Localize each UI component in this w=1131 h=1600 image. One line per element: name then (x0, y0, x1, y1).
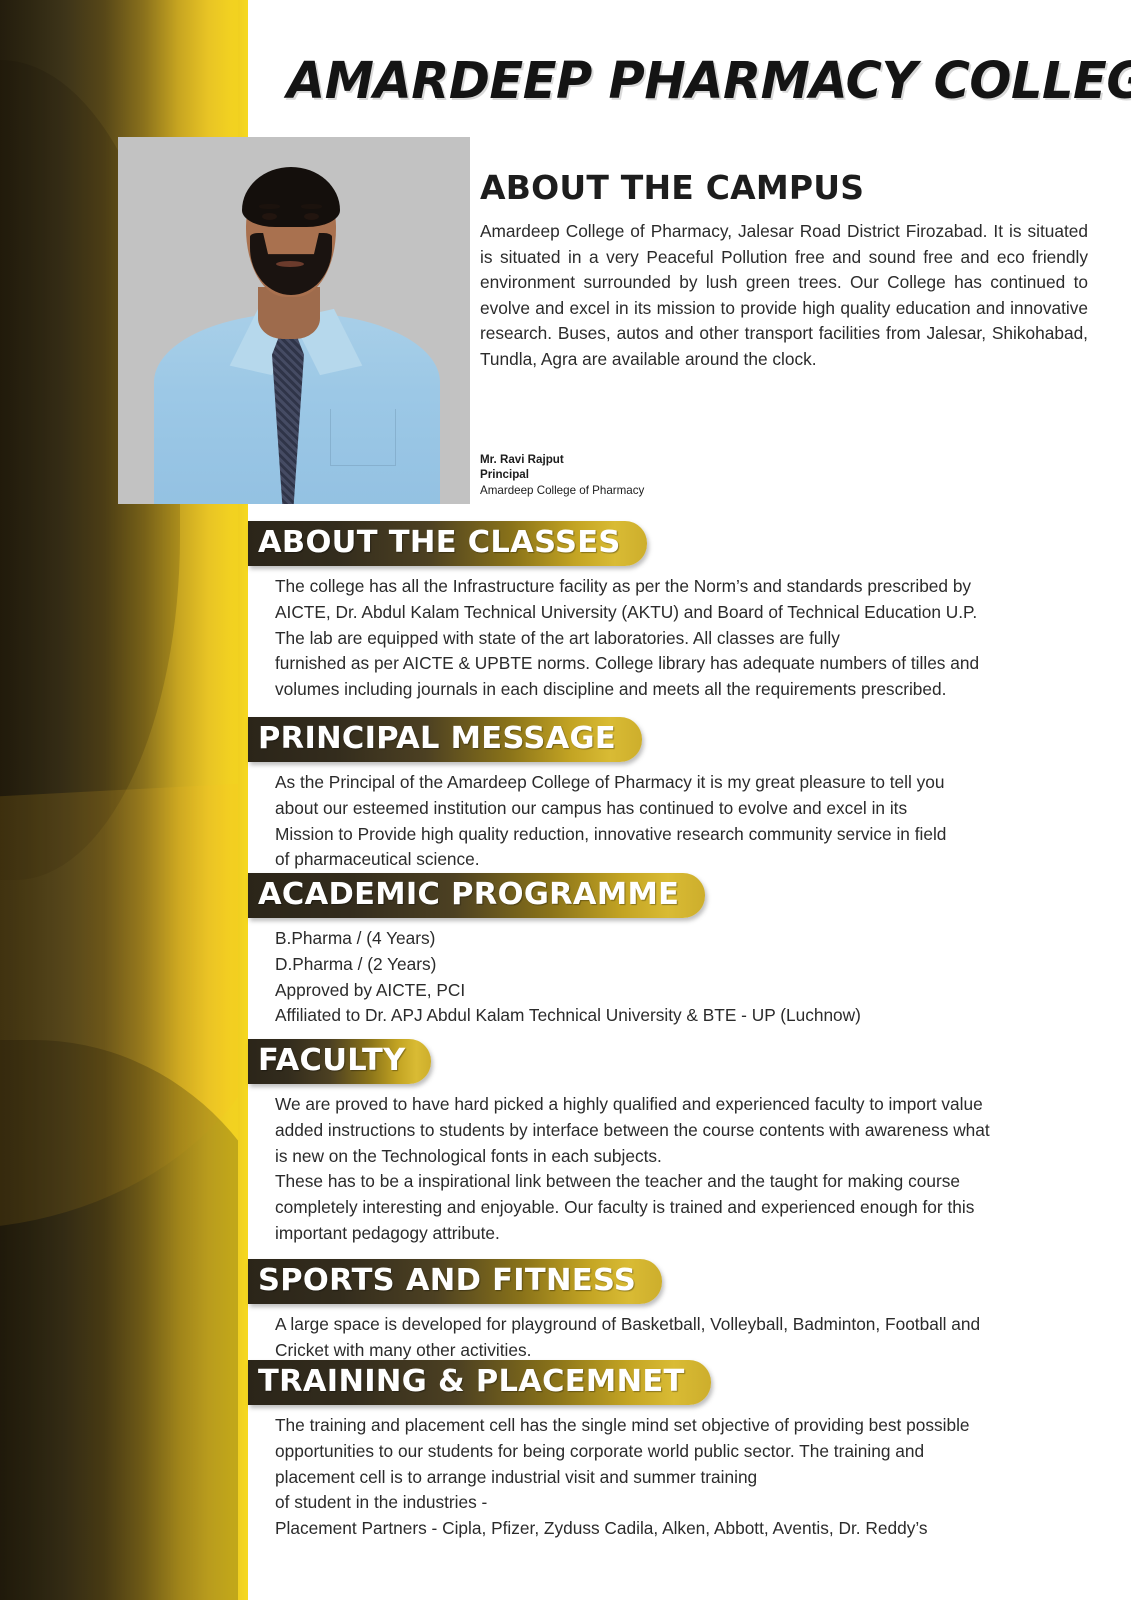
poster-page: AMARDEEP PHARMACY COLLEGE ABOUT THE CAMP… (0, 0, 1131, 1600)
section-body-line: A large space is developed for playgroun… (275, 1312, 1095, 1338)
section-heading-label: ABOUT THE CLASSES (258, 525, 621, 560)
section-body-line: completely interesting and enjoyable. Ou… (275, 1195, 1095, 1221)
photo-eye-right (304, 213, 319, 220)
section-body-line: Affiliated to Dr. APJ Abdul Kalam Techni… (275, 1003, 1095, 1029)
photo-shirt-pocket (330, 409, 396, 466)
section-faculty: FACULTYWe are proved to have hard picked… (248, 1039, 1108, 1247)
section-body-line: The training and placement cell has the … (275, 1413, 1095, 1439)
section-sports-and-fitness: SPORTS AND FITNESSA large space is devel… (248, 1259, 1108, 1364)
section-heading-label: FACULTY (258, 1043, 405, 1078)
section-principal-message: PRINCIPAL MESSAGEAs the Principal of the… (248, 717, 1108, 873)
section-body-line: about our esteemed institution our campu… (275, 796, 1095, 822)
section-heading-label: TRAINING & PLACEMNET (258, 1364, 685, 1399)
section-body: The college has all the Infrastructure f… (275, 574, 1095, 703)
section-body: B.Pharma / (4 Years)D.Pharma / (2 Years)… (275, 926, 1095, 1029)
section-body-line: B.Pharma / (4 Years) (275, 926, 1095, 952)
section-body: A large space is developed for playgroun… (275, 1312, 1095, 1364)
section-body: The training and placement cell has the … (275, 1413, 1095, 1542)
section-body-line: of student in the industries - (275, 1490, 1095, 1516)
section-about-the-classes: ABOUT THE CLASSESThe college has all the… (248, 521, 1108, 703)
section-academic-programme: ACADEMIC PROGRAMMEB.Pharma / (4 Years)D.… (248, 873, 1108, 1029)
section-heading-pill: TRAINING & PLACEMNET (248, 1360, 711, 1405)
page-title: AMARDEEP PHARMACY COLLEGE (287, 56, 1092, 107)
principal-institution: Amardeep College of Pharmacy (480, 483, 644, 498)
section-body-line: The college has all the Infrastructure f… (275, 574, 1095, 600)
section-body: We are proved to have hard picked a high… (275, 1092, 1095, 1247)
section-body-line: placement cell is to arrange industrial … (275, 1465, 1095, 1491)
about-campus-heading: ABOUT THE CAMPUS (480, 168, 864, 207)
section-heading-label: ACADEMIC PROGRAMME (258, 877, 679, 912)
photo-eyebrow-left (259, 204, 280, 209)
section-body-line: D.Pharma / (2 Years) (275, 952, 1095, 978)
section-heading-pill: ABOUT THE CLASSES (248, 521, 647, 566)
section-heading-pill: PRINCIPAL MESSAGE (248, 717, 642, 762)
section-body-line: These has to be a inspirational link bet… (275, 1169, 1095, 1195)
section-heading-label: SPORTS AND FITNESS (258, 1263, 636, 1298)
section-body-line: added instructions to students by interf… (275, 1118, 1095, 1144)
principal-photo (118, 137, 470, 504)
section-body-line: Approved by AICTE, PCI (275, 978, 1095, 1004)
section-heading-label: PRINCIPAL MESSAGE (258, 721, 616, 756)
principal-name: Mr. Ravi Rajput (480, 452, 644, 467)
section-body-line: We are proved to have hard picked a high… (275, 1092, 1095, 1118)
section-body-line: As the Principal of the Amardeep College… (275, 770, 1095, 796)
section-body-line: The lab are equipped with state of the a… (275, 626, 1095, 652)
section-heading-pill: SPORTS AND FITNESS (248, 1259, 662, 1304)
section-body: As the Principal of the Amardeep College… (275, 770, 1095, 873)
section-body-line: AICTE, Dr. Abdul Kalam Technical Univers… (275, 600, 1095, 626)
section-body-line: Placement Partners - Cipla, Pfizer, Zydu… (275, 1516, 1095, 1542)
swoosh-shape-bottom (0, 1040, 248, 1600)
photo-eye-left (262, 213, 277, 220)
section-training-placemnet: TRAINING & PLACEMNETThe training and pla… (248, 1360, 1108, 1542)
principal-role: Principal (480, 467, 644, 482)
section-body-line: Mission to Provide high quality reductio… (275, 822, 1095, 848)
section-body-line: important pedagogy attribute. (275, 1221, 1095, 1247)
section-body-line: opportunities to our students for being … (275, 1439, 1095, 1465)
photo-eyebrow-right (301, 204, 322, 209)
about-campus-body: Amardeep College of Pharmacy, Jalesar Ro… (480, 219, 1088, 373)
section-heading-pill: ACADEMIC PROGRAMME (248, 873, 705, 918)
section-body-line: volumes including journals in each disci… (275, 677, 1095, 703)
section-body-line: is new on the Technological fonts in eac… (275, 1144, 1095, 1170)
section-heading-pill: FACULTY (248, 1039, 431, 1084)
principal-caption: Mr. Ravi Rajput Principal Amardeep Colle… (480, 452, 644, 498)
section-body-line: furnished as per AICTE & UPBTE norms. Co… (275, 651, 1095, 677)
photo-mouth (276, 261, 304, 267)
section-body-line: of pharmaceutical science. (275, 847, 1095, 873)
